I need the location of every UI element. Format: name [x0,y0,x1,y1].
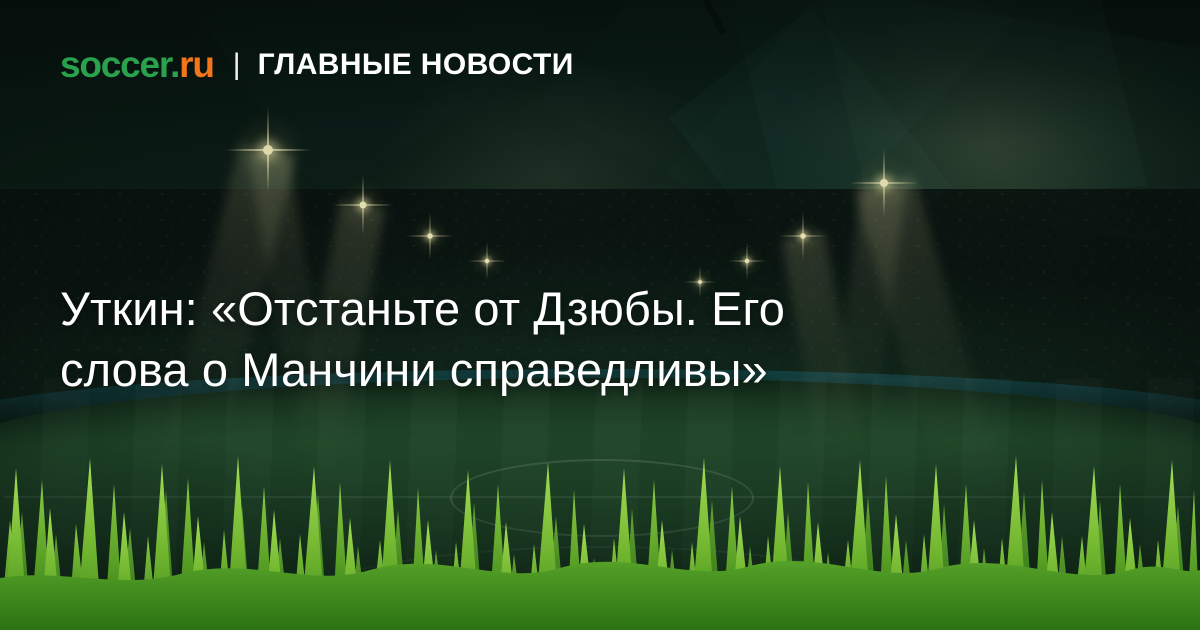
soccer-ru-logo[interactable]: soccer.ru [60,46,214,83]
card-header: soccer.ru | ГЛАВНЫЕ НОВОСТИ [60,46,574,83]
header-kicker-label: ГЛАВНЫЕ НОВОСТИ [258,50,574,80]
foreground-grass [0,450,1200,630]
logo-name-text: soccer [60,44,170,85]
news-share-card: soccer.ru | ГЛАВНЫЕ НОВОСТИ Уткин: «Отст… [0,0,1200,630]
page-title: Уткин: «Отстаньте от Дзюбы. Его слова о … [60,279,1040,399]
logo-dot-text: . [170,44,179,85]
logo-tld-text: ru [179,44,214,85]
header-divider: | [233,50,241,80]
headline-line-2: слова о Манчини справедливы» [60,340,1040,400]
headline-line-1: Уткин: «Отстаньте от Дзюбы. Его [60,279,1040,339]
